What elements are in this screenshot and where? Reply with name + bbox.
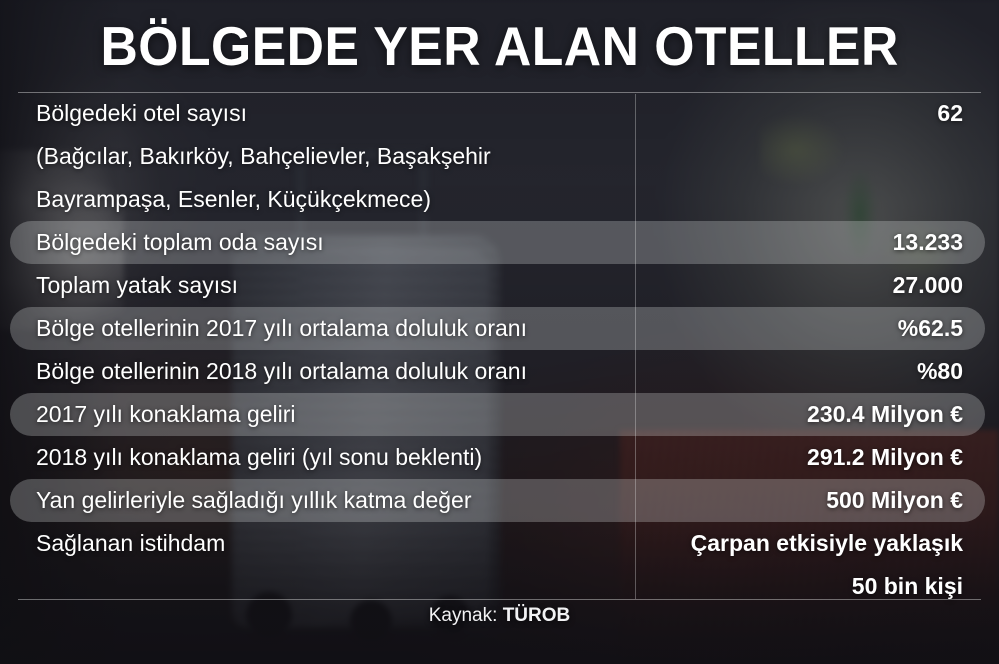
table-row: Bölge otellerinin 2017 yılı ortalama dol… bbox=[0, 307, 999, 350]
row-value: 500 Milyon € bbox=[635, 479, 999, 522]
page-title: BÖLGEDE YER ALAN OTELLER bbox=[100, 14, 898, 78]
row-label: 2018 yılı konaklama geliri (yıl sonu bek… bbox=[0, 436, 635, 479]
infographic-canvas: BÖLGEDE YER ALAN OTELLER Bölgedeki otel … bbox=[0, 0, 999, 664]
row-value: 27.000 bbox=[635, 264, 999, 307]
row-label: Bölge otellerinin 2018 yılı ortalama dol… bbox=[0, 350, 635, 393]
table-row: 2018 yılı konaklama geliri (yıl sonu bek… bbox=[0, 436, 999, 479]
table-body: Bölgedeki otel sayısı (Bağcılar, Bakırkö… bbox=[0, 92, 999, 608]
source-line: Kaynak: TÜROB bbox=[0, 605, 999, 627]
table-row: Bölge otellerinin 2018 yılı ortalama dol… bbox=[0, 350, 999, 393]
row-label: Sağlanan istihdam bbox=[0, 522, 635, 565]
row-value: 13.233 bbox=[635, 221, 999, 264]
row-label: Toplam yatak sayısı bbox=[0, 264, 635, 307]
row-value: %80 bbox=[635, 350, 999, 393]
table-row: 2017 yılı konaklama geliri230.4 Milyon € bbox=[0, 393, 999, 436]
row-label: Bölge otellerinin 2017 yılı ortalama dol… bbox=[0, 307, 635, 350]
row-label: Bölgedeki toplam oda sayısı bbox=[0, 221, 635, 264]
stats-table: Bölgedeki otel sayısı (Bağcılar, Bakırkö… bbox=[0, 92, 999, 600]
row-label: Bölgedeki otel sayısı (Bağcılar, Bakırkö… bbox=[0, 92, 635, 221]
table-row: Yan gelirleriyle sağladığı yıllık katma … bbox=[0, 479, 999, 522]
row-label: Yan gelirleriyle sağladığı yıllık katma … bbox=[0, 479, 635, 522]
source-prefix: Kaynak: bbox=[429, 605, 503, 626]
title-band: BÖLGEDE YER ALAN OTELLER bbox=[0, 0, 999, 92]
table-row: Bölgedeki otel sayısı (Bağcılar, Bakırkö… bbox=[0, 92, 999, 221]
row-label: 2017 yılı konaklama geliri bbox=[0, 393, 635, 436]
table-row: Sağlanan istihdamÇarpan etkisiyle yaklaş… bbox=[0, 522, 999, 608]
row-value: %62.5 bbox=[635, 307, 999, 350]
row-value: Çarpan etkisiyle yaklaşık 50 bin kişi bbox=[635, 522, 999, 608]
row-value: 230.4 Milyon € bbox=[635, 393, 999, 436]
table-row: Bölgedeki toplam oda sayısı13.233 bbox=[0, 221, 999, 264]
row-value: 62 bbox=[635, 92, 999, 135]
source-name: TÜROB bbox=[503, 605, 571, 626]
table-row: Toplam yatak sayısı27.000 bbox=[0, 264, 999, 307]
row-value: 291.2 Milyon € bbox=[635, 436, 999, 479]
